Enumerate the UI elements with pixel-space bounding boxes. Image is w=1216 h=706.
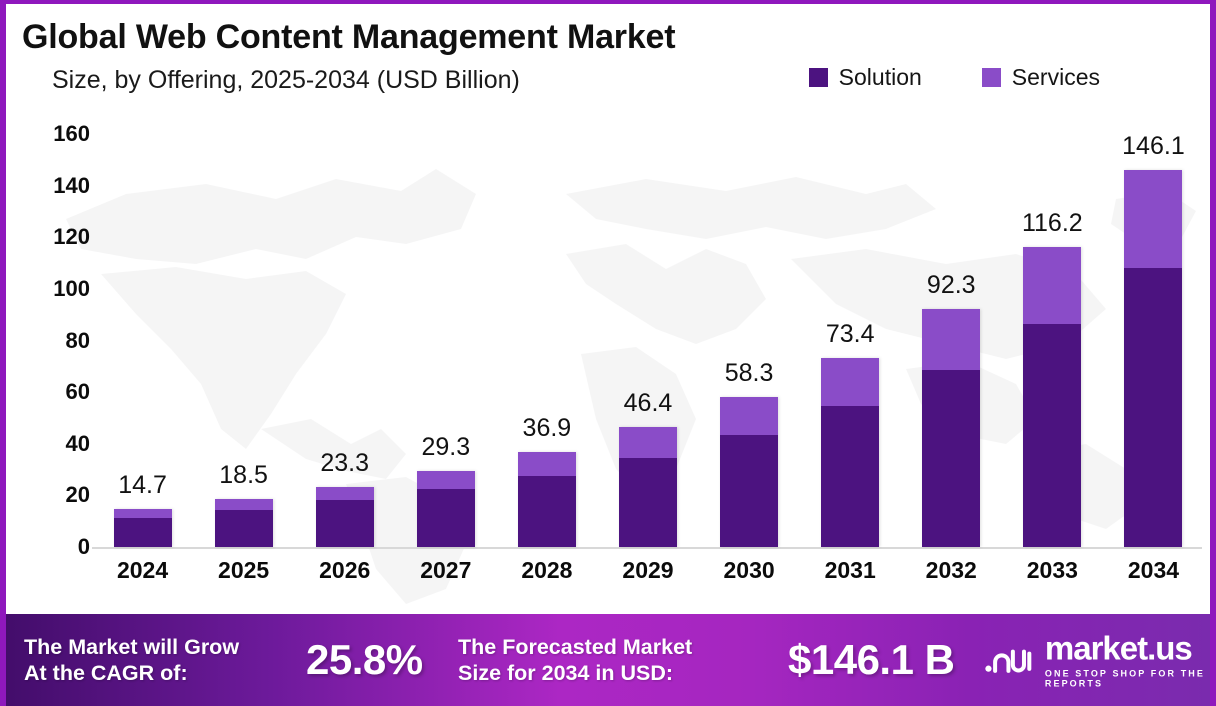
bar-stack[interactable] bbox=[720, 397, 778, 547]
chart-subtitle: Size, by Offering, 2025-2034 (USD Billio… bbox=[52, 66, 520, 95]
bar-total-label: 58.3 bbox=[725, 359, 774, 388]
bar-segment-services[interactable] bbox=[215, 499, 273, 510]
bar-segment-solution[interactable] bbox=[720, 435, 778, 547]
bar-total-label: 23.3 bbox=[320, 449, 369, 478]
bar-stack[interactable] bbox=[1124, 170, 1182, 547]
brand-logo[interactable]: market.us ONE STOP SHOP FOR THE REPORTS bbox=[984, 632, 1210, 689]
bar-group[interactable]: 23.3 bbox=[294, 109, 395, 547]
bar-group[interactable]: 46.4 bbox=[597, 109, 698, 547]
plot-area: 020406080100120140160 14.718.523.329.336… bbox=[6, 109, 1210, 604]
bar-total-label: 14.7 bbox=[118, 471, 167, 500]
x-axis-tick: 2025 bbox=[193, 557, 294, 584]
bar-stack[interactable] bbox=[619, 427, 677, 547]
bar-total-label: 116.2 bbox=[1022, 209, 1083, 238]
bar-segment-solution[interactable] bbox=[316, 500, 374, 547]
bar-stack[interactable] bbox=[922, 309, 980, 547]
page-title: Global Web Content Management Market bbox=[22, 18, 675, 57]
infographic-root: Global Web Content Management Market Siz… bbox=[0, 0, 1216, 706]
y-axis-tick: 80 bbox=[20, 328, 90, 354]
x-axis-tick: 2033 bbox=[1002, 557, 1103, 584]
x-axis-tick: 2026 bbox=[294, 557, 395, 584]
forecast-caption: The Forecasted Market Size for 2034 in U… bbox=[458, 634, 692, 686]
legend-item-solution[interactable]: Solution bbox=[809, 64, 922, 91]
bar-segment-services[interactable] bbox=[821, 358, 879, 407]
legend-item-services[interactable]: Services bbox=[982, 64, 1100, 91]
forecast-caption-line1: The Forecasted Market bbox=[458, 634, 692, 660]
x-axis-tick: 2032 bbox=[901, 557, 1002, 584]
y-axis-tick: 20 bbox=[20, 482, 90, 508]
forecast-value: $146.1 B bbox=[788, 636, 954, 684]
bar-segment-services[interactable] bbox=[619, 427, 677, 458]
bar-group[interactable]: 29.3 bbox=[395, 109, 496, 547]
y-axis-tick: 60 bbox=[20, 379, 90, 405]
cagr-value: 25.8% bbox=[306, 636, 423, 684]
y-axis-tick: 160 bbox=[20, 121, 90, 147]
bar-segment-solution[interactable] bbox=[619, 458, 677, 547]
legend-swatch-services bbox=[982, 68, 1001, 87]
y-axis-tick: 140 bbox=[20, 173, 90, 199]
bar-stack[interactable] bbox=[215, 499, 273, 547]
bar-segment-services[interactable] bbox=[518, 452, 576, 476]
bar-group[interactable]: 73.4 bbox=[800, 109, 901, 547]
bar-group[interactable]: 146.1 bbox=[1103, 109, 1204, 547]
bar-segment-services[interactable] bbox=[114, 509, 172, 518]
bar-group[interactable]: 18.5 bbox=[193, 109, 294, 547]
legend-swatch-solution bbox=[809, 68, 828, 87]
cagr-caption: The Market will Grow At the CAGR of: bbox=[24, 634, 239, 686]
bar-stack[interactable] bbox=[316, 487, 374, 547]
y-axis-tick: 100 bbox=[20, 276, 90, 302]
cagr-caption-line2: At the CAGR of: bbox=[24, 660, 239, 686]
footer-band: The Market will Grow At the CAGR of: 25.… bbox=[6, 614, 1210, 706]
bar-segment-services[interactable] bbox=[1023, 247, 1081, 324]
bar-total-label: 46.4 bbox=[624, 389, 673, 418]
bar-segment-solution[interactable] bbox=[114, 518, 172, 547]
chart-legend: Solution Services bbox=[809, 64, 1100, 91]
bar-total-label: 29.3 bbox=[421, 433, 470, 462]
bars-layer: 14.718.523.329.336.946.458.373.492.3116.… bbox=[92, 109, 1204, 547]
bar-segment-services[interactable] bbox=[316, 487, 374, 500]
x-axis-tick: 2034 bbox=[1103, 557, 1204, 584]
x-axis-tick: 2027 bbox=[395, 557, 496, 584]
x-axis-tick: 2029 bbox=[597, 557, 698, 584]
bar-group[interactable]: 14.7 bbox=[92, 109, 193, 547]
bar-segment-solution[interactable] bbox=[1023, 324, 1081, 547]
chart-header: Global Web Content Management Market Siz… bbox=[6, 4, 1210, 109]
bar-group[interactable]: 36.9 bbox=[496, 109, 597, 547]
x-axis-tick: 2024 bbox=[92, 557, 193, 584]
bar-group[interactable]: 58.3 bbox=[699, 109, 800, 547]
bar-stack[interactable] bbox=[518, 452, 576, 547]
bar-group[interactable]: 92.3 bbox=[901, 109, 1002, 547]
y-axis-tick: 0 bbox=[20, 534, 90, 560]
bar-segment-services[interactable] bbox=[1124, 170, 1182, 268]
bar-total-label: 92.3 bbox=[927, 271, 976, 300]
x-axis-tick: 2030 bbox=[699, 557, 800, 584]
bar-segment-services[interactable] bbox=[417, 471, 475, 489]
legend-label-services: Services bbox=[1012, 64, 1100, 91]
cagr-caption-line1: The Market will Grow bbox=[24, 634, 239, 660]
x-axis: 2024202520262027202820292030203120322033… bbox=[92, 557, 1204, 597]
y-axis-tick: 40 bbox=[20, 431, 90, 457]
x-axis-line bbox=[92, 547, 1202, 549]
brand-wordmark: market.us bbox=[1045, 632, 1210, 665]
bar-segment-solution[interactable] bbox=[821, 406, 879, 547]
bar-total-label: 146.1 bbox=[1122, 132, 1185, 161]
bar-segment-solution[interactable] bbox=[922, 370, 980, 547]
bar-stack[interactable] bbox=[821, 358, 879, 547]
bar-segment-solution[interactable] bbox=[518, 476, 576, 547]
y-axis-tick: 120 bbox=[20, 224, 90, 250]
legend-label-solution: Solution bbox=[839, 64, 922, 91]
bar-segment-services[interactable] bbox=[922, 309, 980, 370]
bar-stack[interactable] bbox=[114, 509, 172, 547]
bar-stack[interactable] bbox=[417, 471, 475, 547]
forecast-caption-line2: Size for 2034 in USD: bbox=[458, 660, 692, 686]
bar-segment-solution[interactable] bbox=[1124, 268, 1182, 547]
bar-segment-solution[interactable] bbox=[215, 510, 273, 547]
brand-tagline: ONE STOP SHOP FOR THE REPORTS bbox=[1045, 669, 1210, 689]
bar-total-label: 73.4 bbox=[826, 320, 875, 349]
brand-text-block: market.us ONE STOP SHOP FOR THE REPORTS bbox=[1045, 632, 1210, 689]
bar-total-label: 36.9 bbox=[523, 414, 572, 443]
bar-stack[interactable] bbox=[1023, 247, 1081, 547]
bar-group[interactable]: 116.2 bbox=[1002, 109, 1103, 547]
bar-segment-services[interactable] bbox=[720, 397, 778, 435]
market-us-logo-icon bbox=[984, 640, 1033, 680]
bar-total-label: 18.5 bbox=[219, 461, 268, 490]
bar-segment-solution[interactable] bbox=[417, 489, 475, 547]
y-axis: 020406080100120140160 bbox=[14, 109, 90, 604]
x-axis-tick: 2031 bbox=[800, 557, 901, 584]
x-axis-tick: 2028 bbox=[496, 557, 597, 584]
